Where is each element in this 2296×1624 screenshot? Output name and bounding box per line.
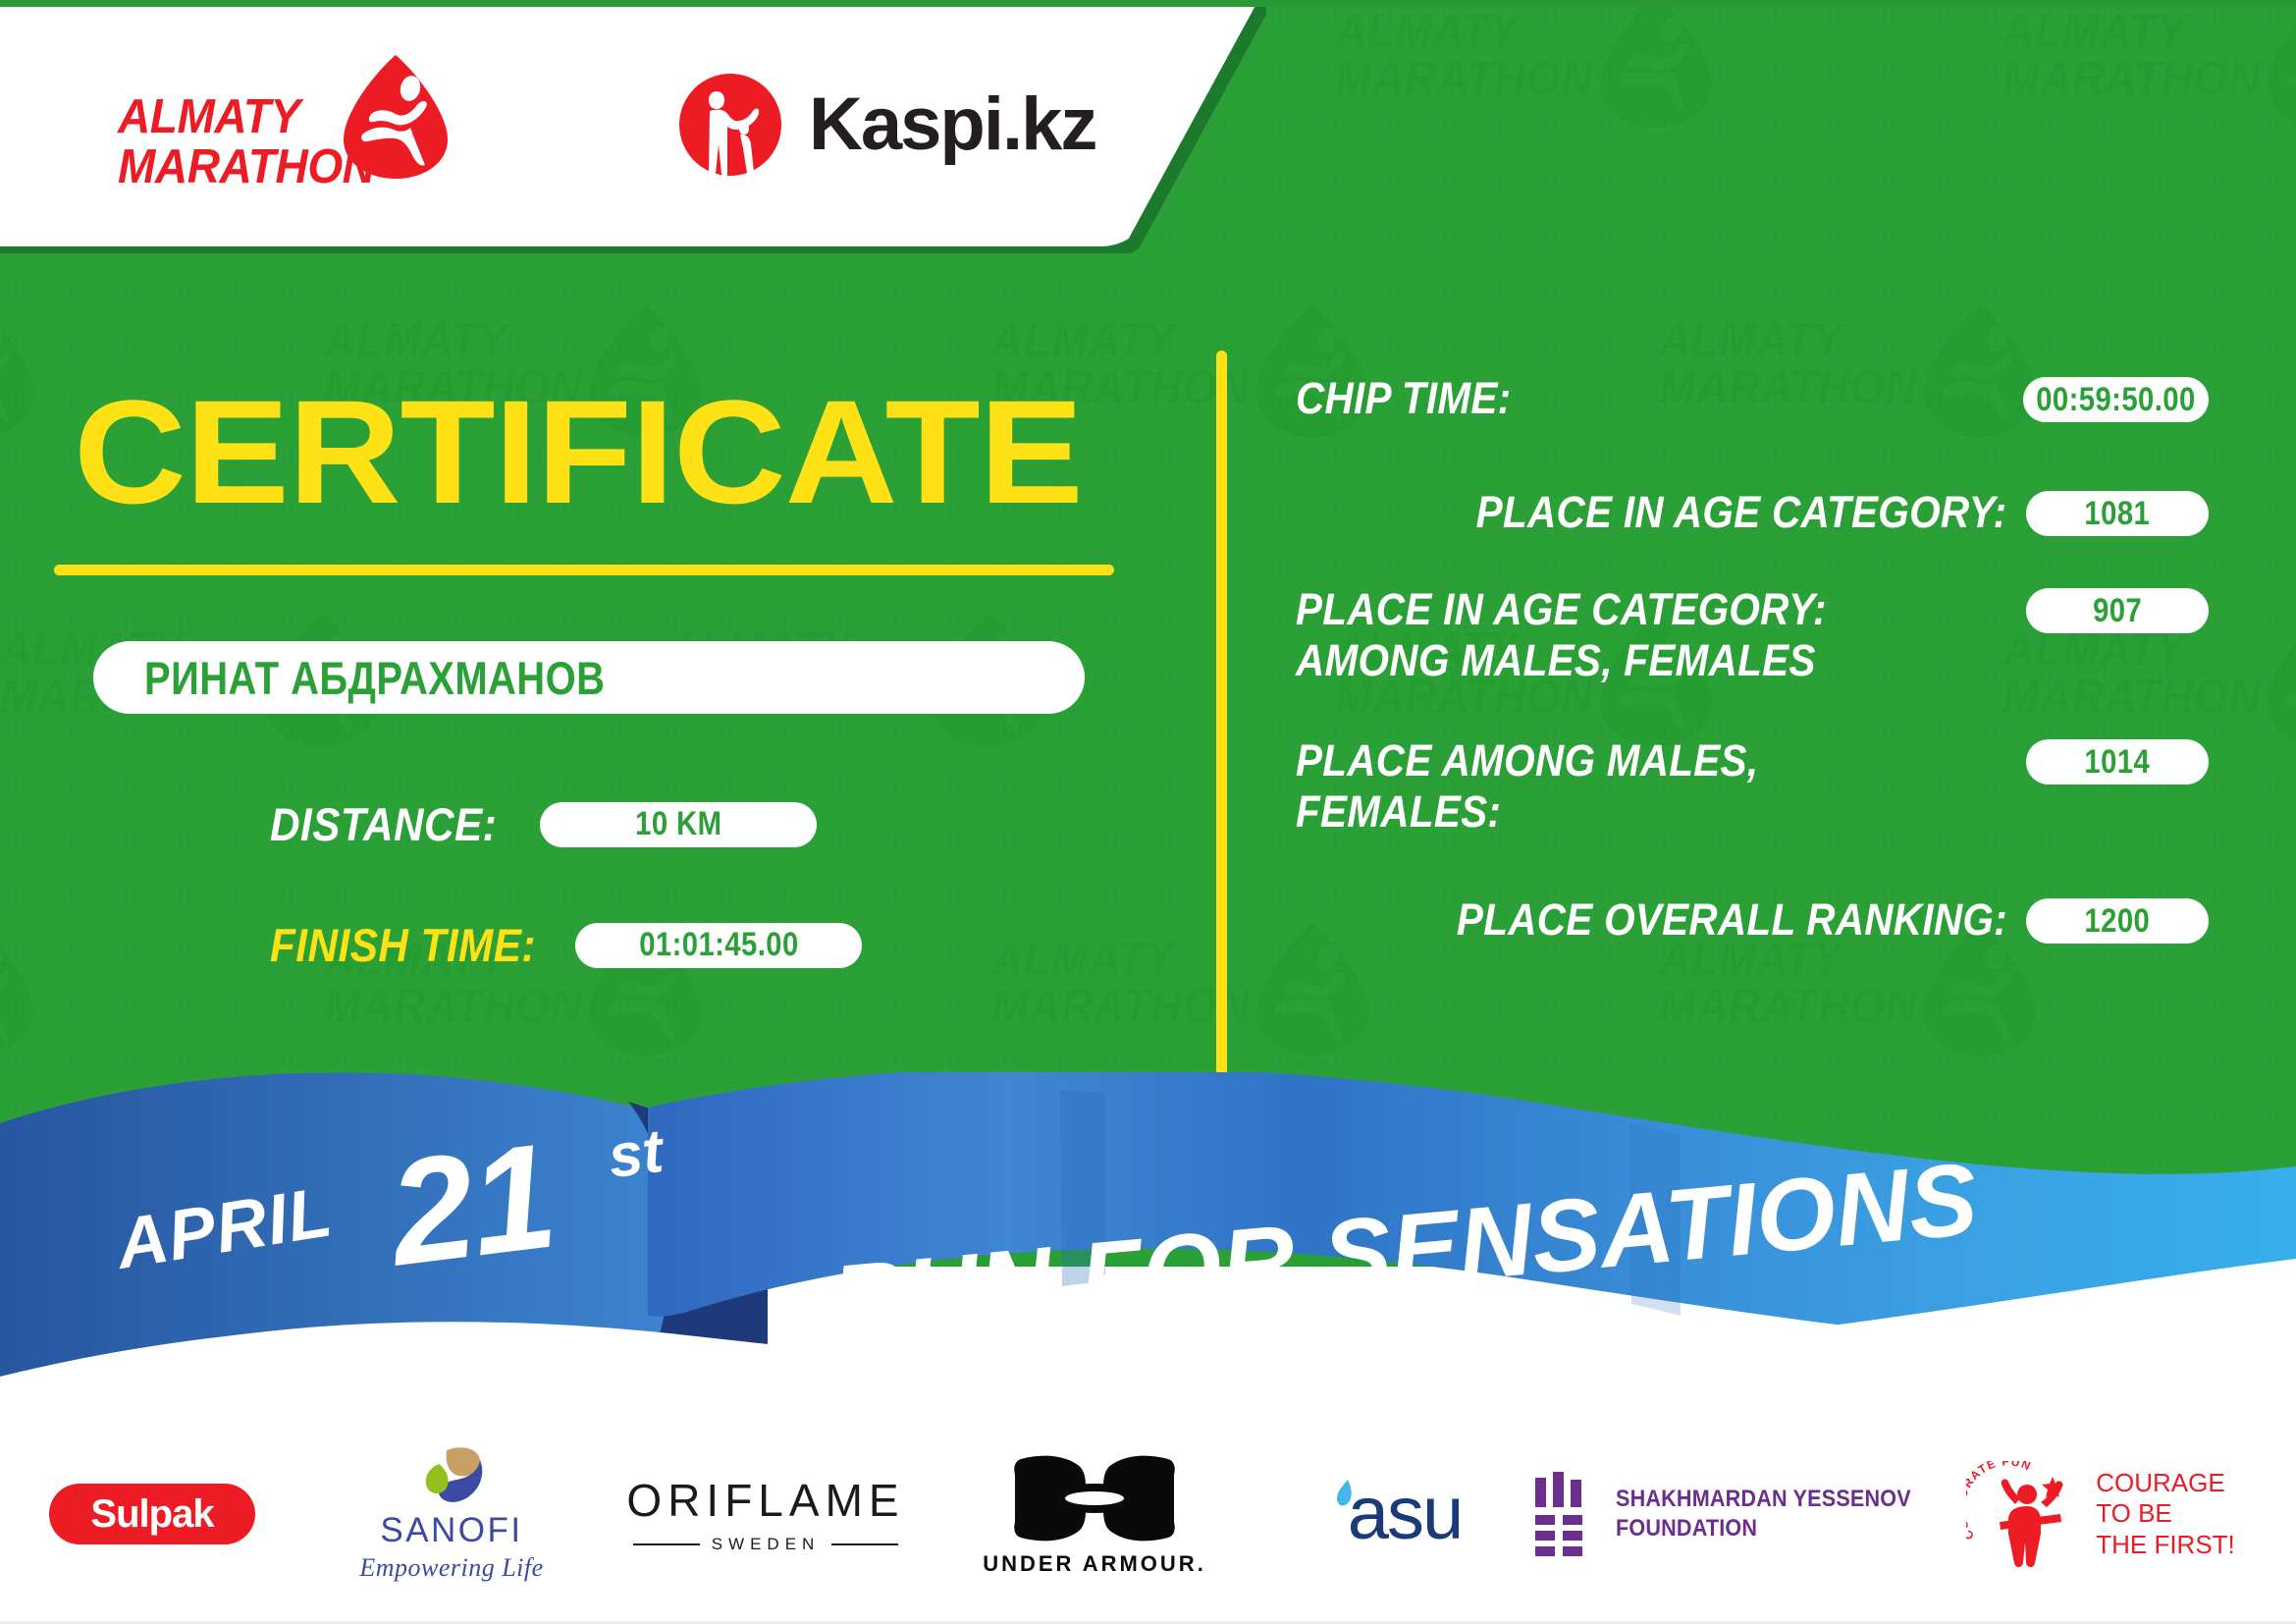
courage-fund-tagline-line: THE FIRST! — [2096, 1530, 2235, 1560]
oriflame-logo: ORIFLAME SWEDEN — [626, 1474, 904, 1554]
overall-label: PLACE OVERALL RANKING: — [1457, 894, 2012, 945]
yessenov-line1: SHAKHMARDAN YESSENOV — [1616, 1485, 1911, 1514]
result-row-chip-time: CHIP TIME: 00:59:50.00 — [1296, 373, 2209, 422]
kaspi-logo: Kaspi.kz — [677, 71, 1095, 179]
logo-line-2: MARATHON — [118, 142, 367, 192]
yessenov-logo: SHAKHMARDAN YESSENOV FOUNDATION — [1531, 1472, 1944, 1556]
place-gender-label: PLACE AMONG MALES, FEMALES: — [1296, 735, 1972, 837]
title-divider — [54, 565, 1114, 575]
place-age-value: 1081 — [2085, 495, 2151, 533]
courage-fund-tagline: COURAGETO BETHE FIRST! — [2096, 1468, 2235, 1560]
sponsor-asu: asu — [1256, 1445, 1541, 1583]
sanofi-mark-icon — [409, 1446, 494, 1507]
sanofi-logo: SANOFI Empowering Life — [359, 1446, 543, 1583]
courage-fund-mark-icon: CORPORATE FUND — [1966, 1461, 2082, 1567]
asu-wordmark: asu — [1348, 1477, 1463, 1551]
sponsor-under-armour: UNDER ARMOUR. — [933, 1445, 1256, 1583]
watermark-tile: ALMATYMARATHON — [0, 309, 69, 486]
finish-time-row: FINISH TIME: 01:01:45.00 — [270, 918, 862, 972]
kaspi-wordmark: Kaspi.kz — [809, 87, 1095, 162]
finish-time-label: FINISH TIME: — [270, 918, 536, 972]
runner-drop-icon — [342, 53, 450, 181]
sulpak-logo: Sulpak — [49, 1484, 255, 1544]
result-row-overall: PLACE OVERALL RANKING: 1200 — [1296, 894, 2209, 945]
yessenov-line2: FOUNDATION — [1616, 1514, 1911, 1543]
certificate-page: ALMATYMARATHONALMATYMARATHONALMATYMARATH… — [0, 0, 2296, 1624]
oriflame-sub: SWEDEN — [633, 1535, 898, 1554]
finish-time-value-pill: 01:01:45.00 — [575, 923, 862, 968]
almaty-marathon-logo-text: ALMATY MARATHON — [118, 92, 367, 192]
header-logos: ALMATY MARATHON Kaspi.kz — [0, 0, 1266, 253]
yessenov-wordmark: SHAKHMARDAN YESSENOV FOUNDATION — [1616, 1485, 1911, 1543]
under-armour-mark-icon — [1013, 1451, 1176, 1545]
place-age-gender-label: PLACE IN AGE CATEGORY: AMONG MALES, FEMA… — [1296, 584, 1972, 685]
distance-value-pill: 10 KM — [540, 802, 817, 847]
participant-name-field: РИНАТ АБДРАХМАНОВ — [93, 641, 1085, 714]
place-gender-value-pill: 1014 — [2026, 739, 2209, 785]
watermark-drop-icon — [2266, 0, 2296, 130]
yessenov-mark-icon — [1531, 1472, 1596, 1556]
place-gender-label-line1: PLACE AMONG MALES, — [1296, 735, 1967, 785]
watermark-text: ALMATYMARATHON — [1335, 8, 1606, 102]
oriflame-rule-right — [831, 1543, 898, 1545]
watermark-drop-icon — [0, 301, 35, 439]
watermark-text: ALMATYMARATHON — [2002, 8, 2273, 102]
courage-fund-tagline-line: COURAGE — [2096, 1468, 2235, 1498]
asu-logo: asu — [1336, 1477, 1463, 1551]
sulpak-wordmark: Sulpak — [90, 1492, 213, 1537]
courage-fund-tagline-line: TO BE — [2096, 1498, 2235, 1529]
chip-time-label: CHIP TIME: — [1296, 373, 1972, 423]
oriflame-rule-left — [633, 1543, 700, 1545]
result-row-place-age: PLACE IN AGE CATEGORY: 1081 — [1296, 487, 2209, 537]
sponsor-oriflame: ORIFLAME SWEDEN — [599, 1445, 933, 1583]
watermark-drop-icon — [2266, 611, 2296, 748]
participant-name-value: РИНАТ АБДРАХМАНОВ — [144, 651, 605, 705]
distance-value: 10 KM — [635, 805, 721, 843]
almaty-marathon-logo: ALMATY MARATHON — [118, 47, 442, 199]
place-gender-label-line2: FEMALES: — [1296, 786, 1967, 837]
overall-value: 1200 — [2085, 902, 2151, 941]
ribbon-ordinal: st — [605, 1116, 667, 1192]
watermark-tile: ALMATYMARATHON — [1335, 0, 1747, 177]
oriflame-wordmark: ORIFLAME — [626, 1474, 904, 1527]
oriflame-tagline: SWEDEN — [712, 1535, 821, 1554]
sponsor-sulpak: Sulpak — [0, 1445, 304, 1583]
watermark-tile: ALMATYMARATHON — [2002, 0, 2296, 177]
chip-time-value-pill: 00:59:50.00 — [2023, 377, 2209, 422]
place-age-gender-label-line1: PLACE IN AGE CATEGORY: — [1296, 584, 1967, 634]
page-title: CERTIFICATE — [74, 378, 1083, 525]
logo-line-1: ALMATY — [118, 92, 367, 142]
finish-time-value: 01:01:45.00 — [639, 926, 798, 964]
top-border-rule — [0, 0, 2296, 7]
result-row-place-age-gender: PLACE IN AGE CATEGORY: AMONG MALES, FEMA… — [1296, 584, 2209, 710]
sponsor-yessenov: SHAKHMARDAN YESSENOV FOUNDATION — [1541, 1445, 1934, 1583]
watermark-text: ALMATYMARATHON — [1659, 936, 1930, 1030]
sanofi-wordmark: SANOFI — [380, 1511, 522, 1550]
ribbon-day: 21 — [381, 1110, 562, 1301]
under-armour-logo: UNDER ARMOUR. — [983, 1451, 1206, 1577]
kaspi-mark-icon — [677, 72, 783, 178]
sponsor-bar: Sulpak SANOFI Empowering Life ORIFLAME S… — [0, 1426, 2296, 1602]
result-row-place-gender: PLACE AMONG MALES, FEMALES: 1014 — [1296, 735, 2209, 861]
place-gender-value: 1014 — [2085, 743, 2151, 782]
sponsor-sanofi: SANOFI Empowering Life — [304, 1445, 599, 1583]
place-age-gender-label-line2: AMONG MALES, FEMALES — [1296, 635, 1967, 685]
place-age-value-pill: 1081 — [2026, 491, 2209, 536]
results-list: CHIP TIME: 00:59:50.00 PLACE IN AGE CATE… — [1296, 373, 2209, 946]
distance-label: DISTANCE: — [270, 797, 497, 851]
place-age-label: PLACE IN AGE CATEGORY: — [1476, 487, 2012, 537]
under-armour-wordmark: UNDER ARMOUR. — [983, 1551, 1206, 1577]
chip-time-value: 00:59:50.00 — [2036, 381, 2195, 419]
courage-fund-logo: CORPORATE FUND COURAGETO BETHE FIRST! — [1966, 1461, 2235, 1567]
place-age-gender-value: 907 — [2093, 592, 2142, 630]
place-age-gender-value-pill: 907 — [2026, 588, 2209, 633]
sponsor-courage-fund: CORPORATE FUND COURAGETO BETHE FIRST! — [1934, 1445, 2268, 1583]
column-divider — [1216, 351, 1227, 1099]
watermark-drop-icon — [1598, 0, 1714, 130]
overall-value-pill: 1200 — [2026, 898, 2209, 944]
watermark-drop-icon — [0, 920, 35, 1057]
distance-row: DISTANCE: 10 KM — [270, 797, 817, 851]
sanofi-tagline: Empowering Life — [359, 1553, 543, 1583]
